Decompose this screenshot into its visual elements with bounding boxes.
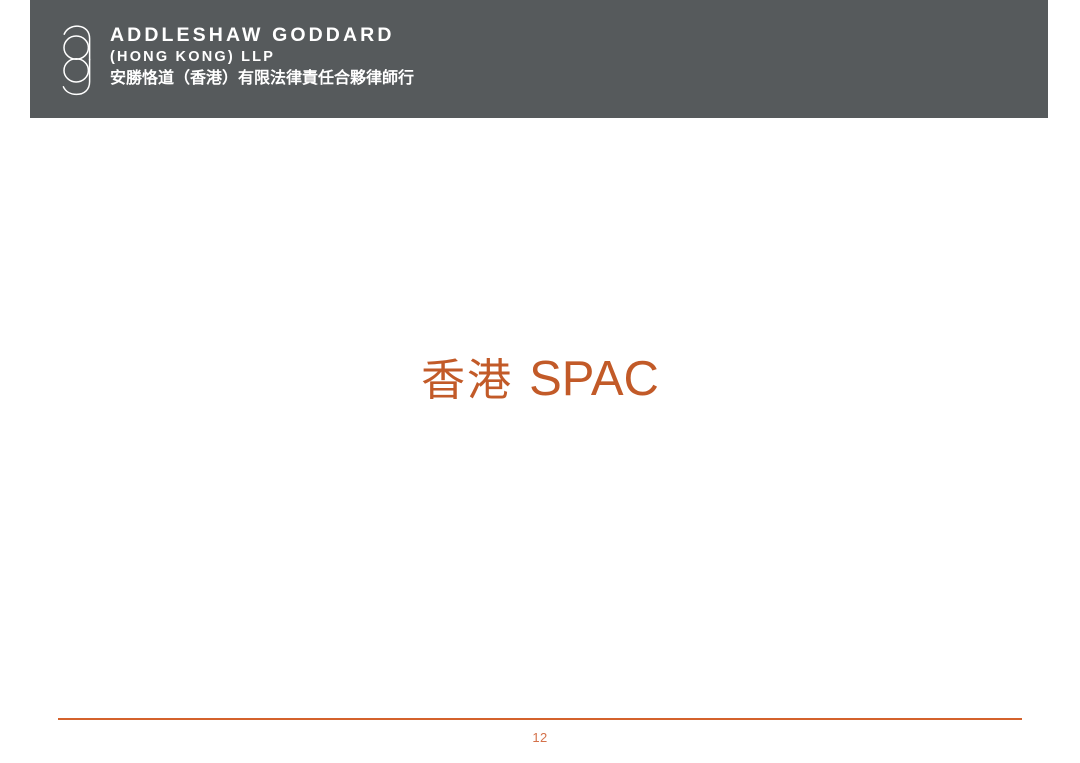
slide-title-cjk: 香港 <box>421 355 529 406</box>
header-band: ADDLESHAW GODDARD (HONG KONG) LLP 安勝恪道（香… <box>30 0 1048 118</box>
ag-monogram-logo-icon <box>58 20 98 98</box>
slide-title-latin: SPAC <box>529 352 659 406</box>
page-number: 12 <box>0 730 1080 745</box>
brand-name-chinese: 安勝恪道（香港）有限法律責任合夥律師行 <box>110 68 414 87</box>
brand-text-block: ADDLESHAW GODDARD (HONG KONG) LLP 安勝恪道（香… <box>110 20 414 87</box>
footer-divider <box>58 718 1022 720</box>
brand-lockup: ADDLESHAW GODDARD (HONG KONG) LLP 安勝恪道（香… <box>58 20 414 98</box>
slide-canvas: ADDLESHAW GODDARD (HONG KONG) LLP 安勝恪道（香… <box>0 0 1080 763</box>
brand-name: ADDLESHAW GODDARD <box>110 25 414 46</box>
brand-entity: (HONG KONG) LLP <box>110 48 414 66</box>
slide-title: 香港 SPAC <box>421 353 659 407</box>
title-area: 香港 SPAC <box>58 118 1022 718</box>
